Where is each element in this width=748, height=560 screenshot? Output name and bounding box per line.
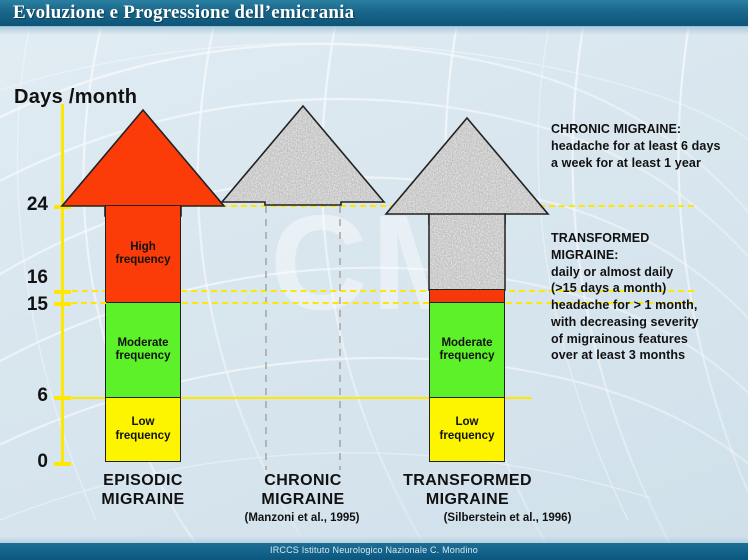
note-transformed-line7: of migrainous features [551, 331, 747, 348]
segment-episodic-high: High frequency [105, 205, 181, 303]
segment-episodic-low: Low frequency [105, 397, 181, 462]
segment-label-line1: Low [456, 416, 479, 428]
category-label-episodic: EPISODIC MIGRAINE [78, 472, 208, 510]
category-episodic-line1: EPISODIC [78, 472, 208, 491]
segment-label-line2: frequency [440, 430, 495, 442]
category-transformed-line1: TRANSFORMED [390, 472, 545, 491]
segment-label-line1: Low [132, 416, 155, 428]
note-transformed-line4: (>15 days a month) [551, 280, 747, 297]
note-transformed-line1: TRANSFORMED [551, 230, 747, 247]
category-chronic-line2: MIGRAINE [238, 491, 368, 510]
segment-label-line2: frequency [440, 350, 495, 362]
segment-transformed-moderate: Moderate frequency [429, 302, 505, 398]
citation-transformed: (Silberstein et al., 1996) [400, 512, 615, 524]
footer-bar: IRCCS Istituto Neurologico Nazionale C. … [0, 543, 748, 560]
note-transformed-line2: MIGRAINE: [551, 247, 747, 264]
bar-transformed-arrowhead [386, 118, 548, 224]
segment-label-line1: High [130, 241, 156, 253]
category-label-chronic: CHRONIC MIGRAINE [238, 472, 368, 510]
bar-chronic-dashed-guides [266, 206, 340, 470]
citation-chronic: (Manzoni et al., 1995) [202, 512, 402, 524]
segment-label-line1: Moderate [117, 337, 168, 349]
note-chronic-line2: headache for at least 6 days [551, 138, 746, 155]
gridline-15-left [62, 302, 106, 304]
segment-label-line2: frequency [116, 350, 171, 362]
category-chronic-line1: CHRONIC [238, 472, 368, 491]
segment-episodic-moderate: Moderate frequency [105, 302, 181, 398]
segment-transformed-high [429, 289, 505, 303]
note-chronic-line3: a week for at least 1 year [551, 155, 746, 172]
segment-label-line1: Moderate [441, 337, 492, 349]
note-transformed-line5: headache for > 1 month, [551, 297, 747, 314]
footer-text: IRCCS Istituto Neurologico Nazionale C. … [0, 545, 748, 555]
note-chronic-migraine: CHRONIC MIGRAINE: headache for at least … [551, 121, 746, 171]
segment-transformed-low: Low frequency [429, 397, 505, 462]
category-label-transformed: TRANSFORMED MIGRAINE [390, 472, 545, 510]
bar-episodic-arrowhead [62, 110, 224, 216]
note-transformed-line3: daily or almost daily [551, 264, 747, 281]
category-transformed-line2: MIGRAINE [390, 491, 545, 510]
slide-canvas: CM Evoluzione e Progressione dell’emicra… [0, 0, 748, 560]
category-episodic-line2: MIGRAINE [78, 491, 208, 510]
gridline-15-mid [182, 302, 429, 304]
note-transformed-line8: over at least 3 months [551, 347, 747, 364]
segment-label-line2: frequency [116, 254, 171, 266]
bar-transformed-gray-shaft [429, 214, 505, 290]
segment-label-line2: frequency [116, 430, 171, 442]
note-chronic-line1: CHRONIC MIGRAINE: [551, 121, 746, 138]
note-transformed-migraine: TRANSFORMED MIGRAINE: daily or almost da… [551, 230, 747, 364]
bar-chronic-arrowhead [222, 106, 384, 205]
note-transformed-line6: with decreasing severity [551, 314, 747, 331]
